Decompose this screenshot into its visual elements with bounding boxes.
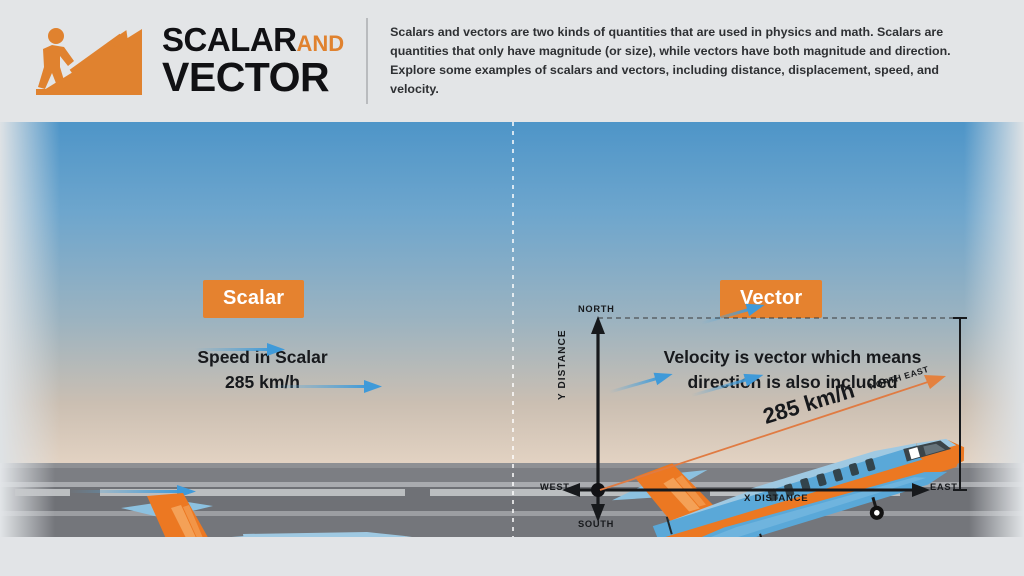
illustration-stage: Scalar Speed in Scalar 285 km/h [0,122,1024,537]
person-walking-up-chart-icon [30,21,148,101]
panel-divider [512,122,514,537]
footer-band [0,537,1024,576]
scalar-badge: Scalar [203,280,304,318]
axis-label-east: EAST [930,482,958,492]
axis-label-north: NORTH [578,304,615,314]
axis-label-south: SOUTH [578,519,614,529]
motion-arrow-upper-left [195,340,290,360]
logo-title-line1: SCALARAND [162,24,344,56]
axis-label-west: WEST [540,482,570,492]
airplane-scalar-illustration [105,480,465,537]
logo-scalar-text: SCALAR [162,21,297,58]
axis-label-y-distance: Y DISTANCE [557,329,568,400]
page-header: SCALARAND VECTOR Scalars and vectors are… [0,0,1024,122]
runway-stripe [15,489,70,496]
logo-block: SCALARAND VECTOR [30,21,344,101]
logo-wordmark: SCALARAND VECTOR [162,24,344,97]
logo-title-line2: VECTOR [162,57,344,98]
motion-arrow-mid-left [268,377,388,397]
header-description: Scalars and vectors are two kinds of qua… [390,23,990,98]
header-divider [366,18,368,104]
logo-and-text: AND [297,31,345,56]
axis-label-x-distance: X DISTANCE [744,493,808,504]
